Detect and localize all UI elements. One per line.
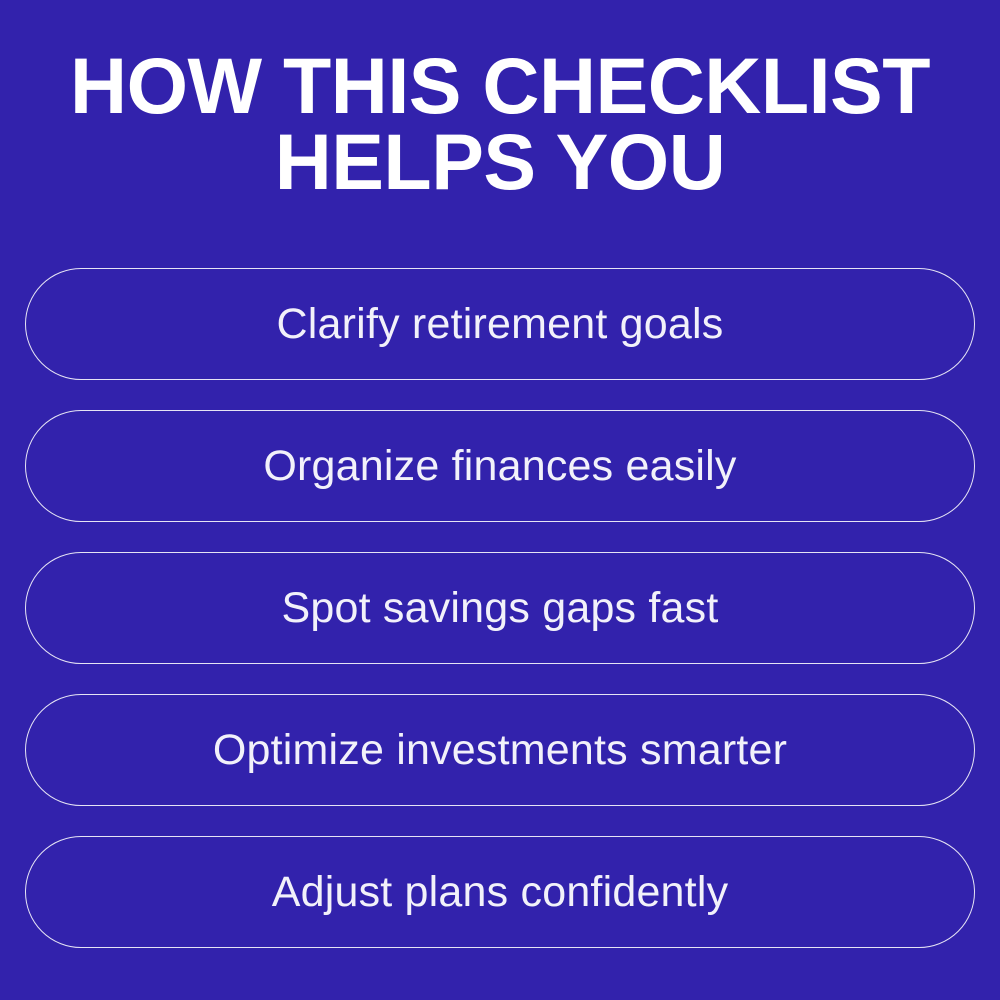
checklist-item-2[interactable]: Organize finances easily (25, 410, 975, 522)
page-title-line-1: HOW THIS CHECKLIST (50, 48, 950, 124)
checklist-item-3[interactable]: Spot savings gaps fast (25, 552, 975, 664)
checklist-item-1[interactable]: Clarify retirement goals (25, 268, 975, 380)
page-title: HOW THIS CHECKLIST HELPS YOU (50, 48, 950, 200)
checklist-item-4[interactable]: Optimize investments smarter (25, 694, 975, 806)
checklist-items: Clarify retirement goals Organize financ… (25, 268, 975, 948)
checklist-item-5[interactable]: Adjust plans confidently (25, 836, 975, 948)
checklist-item-label: Optimize investments smarter (213, 726, 787, 774)
checklist-item-label: Adjust plans confidently (272, 868, 729, 916)
page-title-line-2: HELPS YOU (50, 124, 950, 200)
checklist-poster: HOW THIS CHECKLIST HELPS YOU Clarify ret… (0, 0, 1000, 1000)
checklist-item-label: Clarify retirement goals (277, 300, 724, 348)
checklist-item-label: Organize finances easily (263, 442, 736, 490)
checklist-item-label: Spot savings gaps fast (281, 584, 718, 632)
